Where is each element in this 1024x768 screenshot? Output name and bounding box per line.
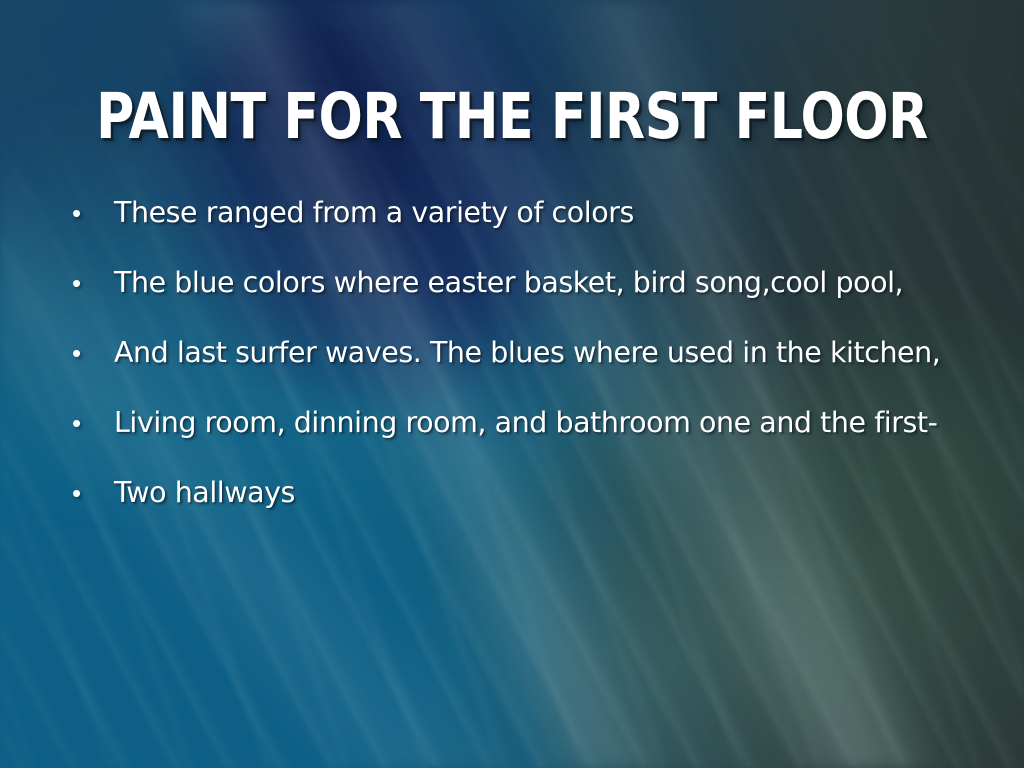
- bullet-text: These ranged from a variety of colors: [114, 196, 1010, 230]
- bullet-point-icon: •: [64, 266, 114, 300]
- bullet-point-icon: •: [64, 196, 114, 230]
- bullet-point-icon: •: [64, 406, 114, 440]
- slide-title: PAINT FOR THE FIRST FLOOR: [41, 82, 983, 152]
- bullet-text: Living room, dinning room, and bathroom …: [114, 406, 1010, 440]
- list-item: • These ranged from a variety of colors: [64, 196, 1010, 266]
- list-item: • The blue colors where easter basket, b…: [64, 266, 1010, 336]
- bullet-list: • These ranged from a variety of colors …: [64, 196, 1010, 546]
- list-item: • Living room, dinning room, and bathroo…: [64, 406, 1010, 476]
- list-item: • Two hallways: [64, 476, 1010, 546]
- bullet-point-icon: •: [64, 476, 114, 510]
- bullet-point-icon: •: [64, 336, 114, 370]
- list-item: • And last surfer waves. The blues where…: [64, 336, 1010, 406]
- slide-content: PAINT FOR THE FIRST FLOOR • These ranged…: [0, 0, 1024, 768]
- bullet-text: The blue colors where easter basket, bir…: [114, 266, 1010, 300]
- bullet-text: And last surfer waves. The blues where u…: [114, 336, 1010, 370]
- presentation-slide: PAINT FOR THE FIRST FLOOR • These ranged…: [0, 0, 1024, 768]
- bullet-text: Two hallways: [114, 476, 1010, 510]
